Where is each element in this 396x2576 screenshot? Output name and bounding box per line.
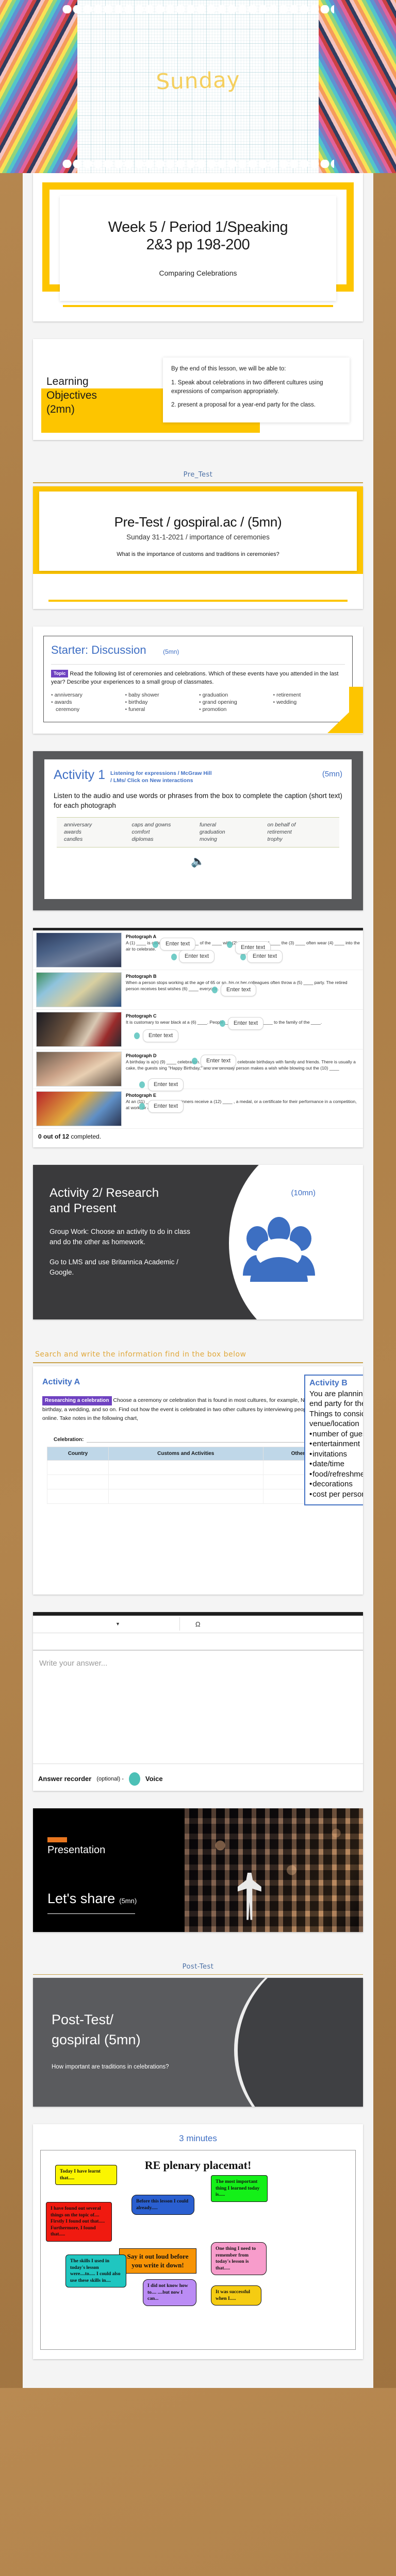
photo-label-d: Photograph D (126, 1053, 360, 1059)
photo-row: Photograph A A (1) ____ is called a ____… (33, 930, 363, 970)
activity2-body-1: Group Work: Choose an activity to do in … (49, 1227, 203, 1247)
wordbank-item: caps and gowns (132, 822, 197, 828)
photo-thumbnail-c (36, 1012, 122, 1047)
wordbank-item: awards (64, 829, 129, 835)
title-yellow-frame: Week 5 / Period 1/Speaking 2&3 pp 198-20… (42, 182, 354, 292)
answer-textarea[interactable]: Write your answer... (33, 1651, 363, 1764)
recorder-voice-label: Voice (145, 1775, 163, 1783)
blank-marker[interactable] (139, 1081, 145, 1088)
photo-label-e: Photograph E (126, 1092, 360, 1098)
blank-marker[interactable] (192, 1058, 197, 1064)
placemat-header: RE plenary placemat! (145, 2159, 252, 2172)
activityB-heading: Activity B (309, 1379, 363, 1388)
photo-row: Photograph D A birthday is a(n) (9) ____… (33, 1049, 363, 1089)
starter-instruction: Read the following list of ceremonies an… (51, 671, 338, 686)
divider-rule (33, 1974, 363, 1975)
divider-post-test-label: Post-Test (33, 1963, 363, 1971)
slides-page: Week 5 / Period 1/Speaking 2&3 pp 198-20… (23, 173, 373, 2388)
wordbank-item: diplomas (132, 836, 197, 842)
topic-tag: Topic (51, 670, 68, 678)
activity1-subtitle-line1: Listening for expressions / McGraw Hill (110, 770, 212, 777)
callout-say-it-out-loud: Say it out loud before you write it down… (119, 2248, 196, 2273)
activityB-bullet: date/time (309, 1459, 363, 1469)
activity1-subtitle: Listening for expressions / McGraw Hill … (110, 768, 212, 784)
activity1-card: Activity 1 Listening for expressions / M… (44, 759, 352, 899)
pre-test-subtitle: Sunday 31-1-2021 / importance of ceremon… (48, 533, 348, 541)
post-test-question: How important are traditions in celebrat… (33, 2064, 363, 2070)
table-cell[interactable] (47, 1475, 109, 1489)
activityB-bullets: number of guests entertainment invitatio… (309, 1429, 363, 1500)
objectives-item-2: 2. present a proposal for a year-end par… (171, 401, 341, 410)
starter-discussion-slide: Starter: Discussion (5mn) Topic Read the… (33, 626, 363, 734)
presentation-slide: Presentation Let's share(5mn) (33, 1808, 363, 1932)
title-slide: Week 5 / Period 1/Speaking 2&3 pp 198-20… (33, 173, 363, 321)
table-cell[interactable] (108, 1489, 263, 1503)
starter-minutes: (5mn) (163, 648, 179, 655)
wordbank-item: moving (200, 836, 265, 842)
learning-objectives-slide: Learning Objectives (2mn) By the end of … (33, 339, 363, 440)
callout-found-out: I have found out several things on the t… (46, 2202, 112, 2242)
editor-top-bar (33, 1612, 363, 1616)
blank-marker[interactable] (212, 987, 218, 993)
enter-text-input[interactable]: Enter text (143, 1029, 178, 1042)
callout-most-important: The most important thing I learned today… (211, 2175, 268, 2202)
progress-suffix: completed. (69, 1133, 101, 1140)
activityB-bullet: invitations (309, 1449, 363, 1460)
researching-highlight: Researching a celebration (42, 1396, 112, 1405)
divider-post-test: Post-Test (33, 1950, 363, 1978)
activity2-text: Activity 2/ Research and Present Group W… (33, 1165, 203, 1277)
photo-caption-e: Photograph E At an (11) ____ ceremony, w… (126, 1091, 360, 1126)
answer-recorder: Answer recorder (optional) - Voice (33, 1764, 363, 1791)
photo-caption-a: Photograph A A (1) ____ is called a ____… (126, 933, 360, 968)
orange-tick-accent (47, 1837, 67, 1842)
recorder-label: Answer recorder (38, 1775, 91, 1783)
photo-thumbnail-a (36, 933, 122, 968)
blank-marker[interactable] (240, 954, 246, 960)
table-cell[interactable] (47, 1460, 109, 1475)
activity2-panel: (10mn) Activity 2/ Resea (33, 1165, 363, 1319)
post-test-title-line2: gospiral (5mn) (52, 2032, 141, 2047)
table-cell[interactable] (47, 1489, 109, 1503)
table-cell[interactable] (108, 1475, 263, 1489)
starter-word-grid: anniversary baby shower graduation retir… (51, 692, 345, 713)
activity1-instruction: Listen to the audio and use words or phr… (54, 791, 342, 811)
activity2-title-line2: and Present (49, 1201, 116, 1215)
plenary-placemat-slide: 3 minutes RE plenary placemat! Today I h… (33, 2124, 363, 2359)
editor-format-area (33, 1633, 363, 1651)
starter-word: wedding (273, 699, 345, 705)
presentation-underline (47, 1913, 135, 1914)
activity1-header: Activity 1 Listening for expressions / M… (54, 768, 342, 784)
starter-title: Starter: Discussion (51, 643, 146, 657)
table-header-country: Country (47, 1447, 109, 1460)
photo-caption-b: Photograph B When a person stops working… (126, 972, 360, 1007)
presentation-minutes: (5mn) (119, 1897, 137, 1905)
table-row[interactable] (47, 1489, 349, 1503)
photo-caption-d: Photograph D A birthday is a(n) (9) ____… (126, 1052, 360, 1087)
starter-word: funeral (125, 706, 197, 713)
callout-before-lesson: Before this lesson I could already..... (131, 2195, 194, 2215)
wordbank-item: on behalf of (268, 822, 333, 828)
callout-did-not-know: I did not know how to.... ....but now I … (143, 2279, 196, 2306)
starter-word: awards (51, 699, 123, 705)
enter-text-input[interactable]: Enter text (179, 950, 214, 963)
lesson-subtitle: Comparing Celebrations (65, 269, 331, 277)
table-cell[interactable] (108, 1460, 263, 1475)
photo-thumbnail-d (36, 1052, 122, 1087)
divider-rule (33, 1362, 363, 1363)
crowd-image (185, 1808, 363, 1932)
table-row[interactable] (47, 1460, 349, 1475)
photograph-activity: Photograph A A (1) ____ is called a ____… (33, 928, 363, 1147)
blank-marker[interactable] (227, 941, 233, 948)
activityB-bullet: food/refreshments (309, 1469, 363, 1480)
lesson-title: Week 5 / Period 1/Speaking 2&3 pp 198-20… (65, 200, 331, 253)
wordbank-item: comfort (132, 829, 197, 835)
recorder-optional-label: (optional) - (96, 1776, 124, 1782)
objectives-item-1: 1. Speak about celebrations in two diffe… (171, 379, 341, 397)
activityB-bullet: number of guests (309, 1429, 363, 1439)
celebration-label: Celebration: (54, 1437, 84, 1443)
starter-word: anniversary (51, 692, 123, 698)
post-test-slide: Post-Test/ gospiral (5mn) How important … (33, 1978, 363, 2107)
activity1-title: Activity 1 (54, 768, 105, 783)
blank-marker[interactable] (153, 941, 158, 948)
activity1-slide: Activity 1 Listening for expressions / M… (33, 751, 363, 910)
wordbank-item: anniversary (64, 822, 129, 828)
divider-pre-test: Pre_Test (33, 457, 363, 486)
activityB-bullet: entertainment (309, 1439, 363, 1449)
activity1-minutes: (5mn) (322, 768, 342, 778)
photo-text-d: A birthday is a(n) (9) ____ celebration.… (126, 1059, 356, 1071)
activityB-bullet: decorations (309, 1479, 363, 1489)
cover-slide: Sunday (0, 0, 396, 173)
photo-thumbnail-b (36, 972, 122, 1007)
photo-row: Photograph B When a person stops working… (33, 970, 363, 1010)
presentation-title: Let's share(5mn) (47, 1891, 137, 1907)
enter-text-input[interactable]: Enter text (148, 1100, 184, 1113)
starter-word: ceremony (51, 706, 123, 713)
activityA-slide: Activity A Researching a celebration Cho… (33, 1366, 363, 1595)
lesson-slide-deck: Sunday Week 5 / Period 1/Speaking 2&3 pp… (0, 0, 396, 2388)
blank-marker[interactable] (171, 954, 177, 960)
table-header-row: Country Customs and Activities Other Not… (47, 1447, 349, 1460)
activity2-title-line1: Activity 2/ Research (49, 1186, 159, 1200)
starter-word: retirement (273, 692, 345, 698)
starter-word (273, 706, 345, 713)
activity1-dark-frame: Activity 1 Listening for expressions / M… (33, 751, 363, 910)
placemat: RE plenary placemat! Today I have learnt… (40, 2150, 356, 2350)
photo-caption-c: Photograph C It is customary to wear bla… (126, 1012, 360, 1047)
objectives-heading-line1: Learning (46, 375, 155, 389)
enter-text-input[interactable]: Enter text (160, 938, 195, 951)
wordbank-item: retirement (268, 829, 333, 835)
activity1-subtitle-line2: / LMs/ Click on New interactions (110, 777, 212, 784)
objectives-card: By the end of this lesson, we will be ab… (163, 358, 350, 422)
activity2-title: Activity 2/ Research and Present (49, 1185, 203, 1216)
plenary-minutes: 3 minutes (40, 2133, 356, 2144)
starter-instruction-block: Topic Read the following list of ceremon… (51, 670, 345, 687)
callout-one-thing: One thing I need to remember from today'… (211, 2242, 267, 2275)
post-test-title-line1: Post-Test/ (52, 2012, 113, 2027)
pre-test-question: What is the importance of customs and tr… (48, 551, 348, 557)
blank-marker[interactable] (134, 1032, 140, 1039)
table-row[interactable] (47, 1475, 349, 1489)
callout-skills-used: The skills I used in today's lesson were… (65, 2255, 126, 2287)
activityB-panel: Activity B You are planning for a year-e… (304, 1375, 363, 1506)
activityB-body: You are planning for a year-end party fo… (309, 1389, 363, 1429)
search-note-label: Search and write the information find in… (33, 1350, 363, 1359)
enter-text-input[interactable]: Enter text (228, 1017, 263, 1030)
microphone-icon[interactable] (129, 1772, 140, 1786)
activity2-minutes: (10mn) (291, 1189, 316, 1197)
pre-test-footer (33, 574, 363, 600)
title-inner-card: Week 5 / Period 1/Speaking 2&3 pp 198-20… (60, 196, 336, 301)
scallop-edge-bottom (62, 160, 334, 168)
scallop-edge-top (62, 5, 334, 13)
title-underline-bar (63, 305, 333, 307)
starter-box: Starter: Discussion (5mn) Topic Read the… (43, 636, 353, 722)
objectives-heading: Learning Objectives (2mn) (46, 358, 155, 422)
blank-marker[interactable] (139, 1103, 145, 1110)
objectives-heading-line3: (2mn) (46, 403, 155, 417)
wordbank-item: trophy (268, 836, 333, 842)
lesson-title-line2: 2&3 pp 198-200 (75, 236, 321, 253)
group-people-icon (238, 1214, 323, 1291)
objectives-content: Learning Objectives (2mn) By the end of … (33, 339, 363, 440)
photo-label-b: Photograph B (126, 973, 360, 979)
blank-marker[interactable] (220, 1020, 225, 1027)
chevron-down-icon[interactable]: ▼ (115, 1621, 120, 1626)
wordbank-item: funeral (200, 822, 265, 828)
presentation-panel: Presentation Let's share(5mn) (33, 1808, 363, 1932)
progress-status: 0 out of 12 completed. (33, 1129, 363, 1147)
callout-successful: It was successful when I..... (211, 2285, 261, 2306)
starter-word: baby shower (125, 692, 197, 698)
activityB-bullet: cost per person (309, 1489, 363, 1500)
pre-test-card: Pre-Test / gospiral.ac / (5mn) Sunday 31… (39, 492, 357, 571)
starter-divider-rule (51, 664, 345, 665)
starter-word: grand opening (199, 699, 271, 705)
presentation-title-text: Let's share (47, 1891, 115, 1906)
photo-row: Photograph C It is customary to wear bla… (33, 1010, 363, 1049)
post-test-panel: Post-Test/ gospiral (5mn) How important … (33, 1978, 363, 2107)
pre-test-title: Pre-Test / gospiral.ac / (5mn) (48, 514, 348, 530)
enter-text-input[interactable]: Enter text (201, 1055, 236, 1067)
answer-editor: ▼ Ω Write your answer... Answer recorder… (33, 1612, 363, 1791)
toolbar-separator (179, 1617, 180, 1631)
objectives-wrap: Learning Objectives (2mn) By the end of … (33, 339, 363, 440)
presentation-kicker: Presentation (47, 1844, 105, 1856)
starter-word: birthday (125, 699, 197, 705)
pre-test-slide: Pre-Test / gospiral.ac / (5mn) Sunday 31… (33, 486, 363, 609)
pre-test-yellow-band: Pre-Test / gospiral.ac / (5mn) Sunday 31… (33, 486, 363, 574)
divider-search-note: Search and write the information find in… (33, 1337, 363, 1366)
objectives-intro: By the end of this lesson, we will be ab… (171, 365, 341, 374)
editor-toolbar: ▼ Ω (33, 1616, 363, 1633)
starter-word: graduation (199, 692, 271, 698)
divider-rule (33, 482, 363, 483)
speaker-icon[interactable]: 🔈 (54, 855, 342, 868)
lesson-title-line1: Week 5 / Period 1/Speaking (75, 218, 321, 236)
omega-symbol-icon[interactable]: Ω (195, 1620, 201, 1628)
divider-pre-test-label: Pre_Test (33, 471, 363, 479)
callout-today-learnt: Today I have learnt that..... (55, 2165, 117, 2185)
enter-text-input[interactable]: Enter text (221, 984, 256, 996)
photo-thumbnail-e (36, 1091, 122, 1126)
wordbank-item: graduation (200, 829, 265, 835)
activity1-word-bank: anniversary caps and gowns funeral on be… (57, 817, 339, 848)
wordbank-item: candles (64, 836, 129, 842)
enter-text-input[interactable]: Enter text (247, 950, 283, 963)
activity2-slide: (10mn) Activity 2/ Resea (33, 1165, 363, 1319)
starter-word: promotion (199, 706, 271, 713)
photo-row: Photograph E At an (11) ____ ceremony, w… (33, 1089, 363, 1129)
post-test-title: Post-Test/ gospiral (5mn) (33, 1978, 363, 2050)
objectives-heading-line2: Objectives (46, 389, 155, 403)
activity2-body-2: Go to LMS and use Britannica Academic / … (49, 1257, 203, 1277)
progress-count: 0 out of 12 (38, 1133, 69, 1140)
table-header-customs: Customs and Activities (108, 1447, 263, 1460)
